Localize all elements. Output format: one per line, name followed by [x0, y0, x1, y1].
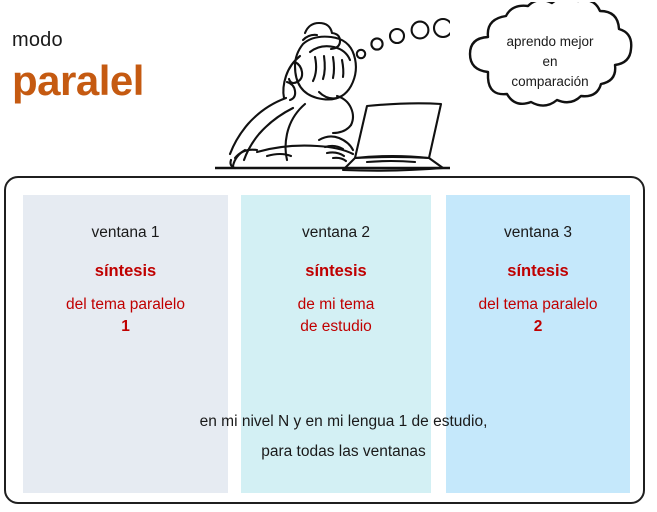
window-column-3-content: ventana 3 síntesis del tema paralelo 2	[446, 223, 630, 338]
window-column-1-label: ventana 1	[23, 223, 228, 243]
panel-caption: en mi nivel N y en mi lengua 1 de estudi…	[40, 407, 647, 467]
panel-caption-line-1: en mi nivel N y en mi lengua 1 de estudi…	[40, 407, 647, 437]
window-column-2-content: ventana 2 síntesis de mi tema de estudio	[241, 223, 431, 338]
thought-bubble-line-1: aprendo mejor	[472, 32, 628, 52]
page-title: paralel	[12, 58, 222, 104]
panel-caption-line-2: para todas las ventanas	[40, 437, 647, 467]
window-column-3-detail: del tema paralelo 2	[446, 294, 630, 338]
window-column-1-heading: síntesis	[23, 261, 228, 282]
title-block: modo paralel	[12, 28, 222, 104]
thought-bubble-line-2: en	[472, 52, 628, 72]
page-title-prefix: modo	[12, 28, 222, 52]
window-column-3-detail-line-2: 2	[446, 316, 630, 338]
thought-bubble: aprendo mejor en comparación	[444, 2, 654, 130]
window-columns: ventana 1 síntesis del tema paralelo 1 v…	[23, 195, 630, 493]
thought-bubble-text: aprendo mejor en comparación	[472, 32, 628, 92]
window-column-2-detail: de mi tema de estudio	[241, 294, 431, 338]
parallel-mode-panel: ventana 1 síntesis del tema paralelo 1 v…	[4, 176, 645, 504]
window-column-1-content: ventana 1 síntesis del tema paralelo 1	[23, 223, 228, 338]
window-column-2-label: ventana 2	[241, 223, 431, 243]
person-studying-at-laptop-illustration	[215, 0, 450, 172]
window-column-1-detail: del tema paralelo 1	[23, 294, 228, 338]
window-column-3-label: ventana 3	[446, 223, 630, 243]
window-column-2-detail-line-1: de mi tema	[241, 294, 431, 316]
window-column-2-heading: síntesis	[241, 261, 431, 282]
thought-bubble-line-3: comparación	[472, 72, 628, 92]
header-area: modo paralel	[0, 0, 657, 172]
window-column-2-detail-line-2: de estudio	[241, 316, 431, 338]
window-column-1-detail-line-2: 1	[23, 316, 228, 338]
window-column-1-detail-line-1: del tema paralelo	[23, 294, 228, 316]
window-column-3-heading: síntesis	[446, 261, 630, 282]
window-column-3-detail-line-1: del tema paralelo	[446, 294, 630, 316]
